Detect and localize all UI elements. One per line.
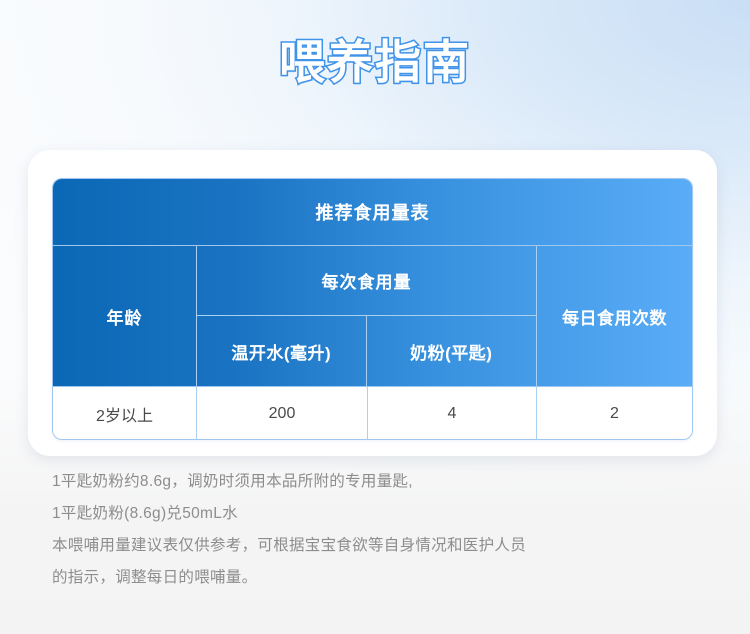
footnotes: 1平匙奶粉约8.6g，调奶时须用本品所附的专用量匙, 1平匙奶粉(8.6g)兑5… [52,466,712,594]
footnote-line-4: 的指示，调整每日的喂哺量。 [52,562,712,594]
cell-times-per-day: 2 [537,387,692,440]
header-age: 年龄 [53,246,197,386]
header-per-serving: 每次食用量 [197,246,536,316]
cell-age: 2岁以上 [53,387,197,440]
page-title-container: 喂养指南 [0,26,750,92]
header-per-serving-group: 每次食用量 温开水(毫升) 奶粉(平匙) [197,246,537,386]
cell-water: 200 [197,387,368,440]
header-water: 温开水(毫升) [197,316,367,386]
footnote-line-1: 1平匙奶粉约8.6g，调奶时须用本品所附的专用量匙, [52,466,712,498]
feeding-guide-page: 喂养指南 推荐食用量表 年龄 每次食用量 温开水(毫升) 奶粉(平匙) 每日食用… [0,0,750,634]
footnote-line-3: 本喂哺用量建议表仅供参考，可根据宝宝食欲等自身情况和医护人员 [52,530,712,562]
header-times-per-day: 每日食用次数 [537,246,692,386]
footnote-line-2: 1平匙奶粉(8.6g)兑50mL水 [52,498,712,530]
header-powder: 奶粉(平匙) [367,316,537,386]
cell-powder: 4 [368,387,537,440]
table-header-row: 年龄 每次食用量 温开水(毫升) 奶粉(平匙) 每日食用次数 [53,246,692,387]
table-row: 2岁以上 200 4 2 [53,387,692,440]
page-title: 喂养指南 [279,26,471,92]
header-per-serving-subrow: 温开水(毫升) 奶粉(平匙) [197,316,536,386]
recommended-intake-table: 推荐食用量表 年龄 每次食用量 温开水(毫升) 奶粉(平匙) 每日食用次数 2岁… [52,178,693,440]
table-caption: 推荐食用量表 [53,179,692,246]
